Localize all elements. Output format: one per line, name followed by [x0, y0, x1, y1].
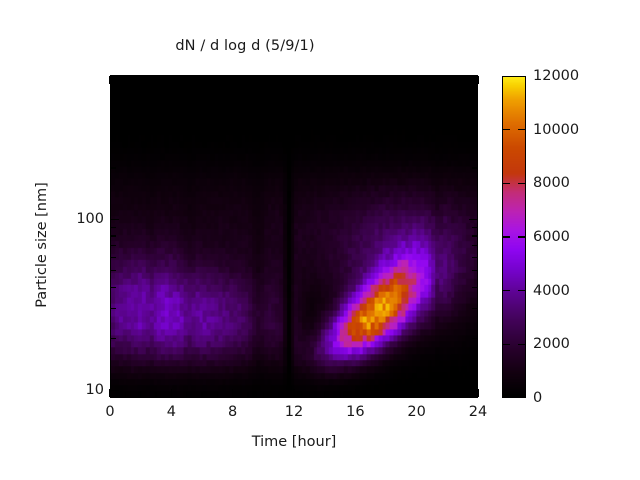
- x-tick: [186, 392, 187, 397]
- y-minor-tick-right: [472, 227, 477, 228]
- y-minor-tick-right: [472, 116, 477, 117]
- x-tick: [232, 389, 233, 397]
- y-tick-right: [469, 219, 477, 220]
- y-minor-tick-right: [472, 308, 477, 309]
- colorbar-tick-label: 10000: [533, 122, 579, 138]
- x-tick-top: [309, 76, 310, 81]
- x-tick-top: [186, 76, 187, 81]
- y-minor-tick-right: [472, 338, 477, 339]
- y-minor-tick-right: [472, 99, 477, 100]
- x-tick-top: [385, 76, 386, 81]
- x-tick: [339, 392, 340, 397]
- x-tick-top: [201, 76, 202, 81]
- x-tick-top: [217, 76, 218, 81]
- colorbar-tick: [503, 290, 510, 291]
- x-tick-top: [232, 76, 233, 84]
- colorbar-tick-label: 2000: [533, 336, 570, 352]
- x-tick: [155, 392, 156, 397]
- y-minor-tick-right: [472, 287, 477, 288]
- x-tick: [370, 392, 371, 397]
- x-tick-label: 4: [167, 404, 176, 420]
- x-tick-label: 16: [346, 404, 364, 420]
- x-tick: [201, 392, 202, 397]
- x-tick: [309, 392, 310, 397]
- colorbar-tick: [503, 183, 510, 184]
- x-tick: [324, 392, 325, 397]
- heatmap-image: [111, 76, 477, 397]
- x-tick-top: [155, 76, 156, 81]
- colorbar-tick: [518, 129, 525, 130]
- x-tick-top: [339, 76, 340, 81]
- x-tick: [447, 392, 448, 397]
- x-tick-top: [462, 76, 463, 81]
- y-tick-right: [469, 390, 477, 391]
- colorbar-tick-label: 8000: [533, 175, 570, 191]
- colorbar-tick-labels: 020004000600080001000012000: [0, 0, 140, 480]
- x-tick: [247, 392, 248, 397]
- colorbar-tick: [503, 129, 510, 130]
- x-tick: [217, 392, 218, 397]
- x-tick: [431, 392, 432, 397]
- x-tick-top: [140, 76, 141, 81]
- x-tick-top: [247, 76, 248, 81]
- x-tick-top: [401, 76, 402, 81]
- x-tick-top: [416, 76, 417, 84]
- x-tick: [263, 392, 264, 397]
- x-tick: [401, 392, 402, 397]
- x-tick-label: 8: [228, 404, 237, 420]
- x-tick-top: [370, 76, 371, 81]
- heatmap-plot-area: [110, 75, 478, 398]
- x-tick-label: 24: [469, 404, 487, 420]
- x-tick: [385, 392, 386, 397]
- x-tick-top: [278, 76, 279, 81]
- colorbar-tick-label: 0: [533, 390, 542, 406]
- x-tick: [416, 389, 417, 397]
- x-axis-title: Time [hour]: [110, 434, 478, 450]
- colorbar-tick-label: 6000: [533, 229, 570, 245]
- x-tick: [140, 392, 141, 397]
- x-tick-label: 20: [407, 404, 425, 420]
- x-tick-top: [263, 76, 264, 81]
- x-tick: [462, 392, 463, 397]
- y-minor-tick-right: [472, 257, 477, 258]
- y-minor-tick-right: [472, 270, 477, 271]
- x-tick: [171, 389, 172, 397]
- colorbar-tick: [518, 344, 525, 345]
- colorbar-tick: [518, 290, 525, 291]
- y-minor-tick-right: [472, 245, 477, 246]
- y-minor-tick-right: [472, 86, 477, 87]
- x-tick-top: [477, 76, 478, 84]
- colorbar-tick: [503, 344, 510, 345]
- x-tick-label: 12: [285, 404, 303, 420]
- y-minor-tick-right: [472, 235, 477, 236]
- x-tick: [355, 389, 356, 397]
- colorbar-tick-label: 4000: [533, 283, 570, 299]
- colorbar-tick: [518, 183, 525, 184]
- x-tick-top: [447, 76, 448, 81]
- colorbar-tick-label: 12000: [533, 68, 579, 84]
- x-tick: [477, 389, 478, 397]
- x-tick-top: [293, 76, 294, 84]
- y-minor-tick-right: [472, 167, 477, 168]
- x-tick: [278, 392, 279, 397]
- x-tick-top: [355, 76, 356, 84]
- figure-canvas: dN / d log d (5/9/1) 04812162024 Time [h…: [0, 0, 640, 480]
- x-tick-top: [324, 76, 325, 81]
- x-tick-top: [171, 76, 172, 84]
- x-tick: [293, 389, 294, 397]
- y-minor-tick-right: [472, 137, 477, 138]
- colorbar-tick: [503, 236, 510, 237]
- x-tick-top: [431, 76, 432, 81]
- colorbar-tick: [518, 236, 525, 237]
